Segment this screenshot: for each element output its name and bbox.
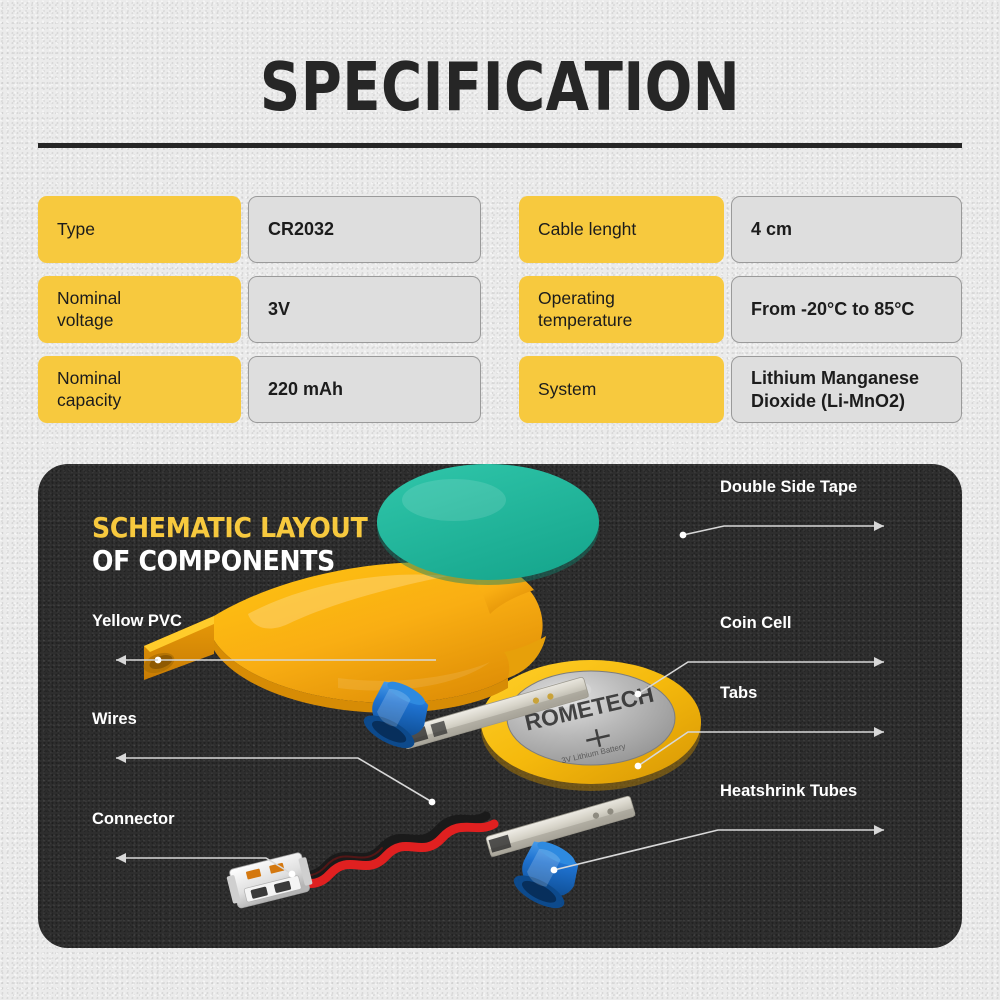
callout-label-wires: Wires — [92, 710, 137, 729]
spec-label: System — [519, 356, 724, 423]
schematic-heading-line2: OF COMPONENTS — [92, 544, 367, 577]
spec-label: Type — [38, 196, 241, 263]
spec-row: Operatingtemperature From -20°C to 85°C — [519, 276, 962, 343]
spec-value: 220 mAh — [248, 356, 481, 423]
spec-value: From -20°C to 85°C — [731, 276, 962, 343]
spec-label: Operatingtemperature — [519, 276, 724, 343]
spec-value: Lithium ManganeseDioxide (Li-MnO2) — [731, 356, 962, 423]
schematic-heading-line1: SCHEMATIC LAYOUT — [92, 511, 367, 544]
callout-label-tabs: Tabs — [720, 684, 757, 703]
spec-row: Nominalvoltage 3V — [38, 276, 481, 343]
double-side-tape-graphic — [377, 464, 599, 585]
title-divider — [38, 143, 962, 148]
spec-row: Type CR2032 — [38, 196, 481, 263]
callout-label-heatshrink-tubes: Heatshrink Tubes — [720, 782, 857, 801]
schematic-heading: SCHEMATIC LAYOUT OF COMPONENTS — [92, 511, 367, 577]
page-title: SPECIFICATION — [35, 48, 965, 126]
callout-label-connector: Connector — [92, 810, 175, 829]
spec-row: Cable lenght 4 cm — [519, 196, 962, 263]
callout-label-double-side-tape: Double Side Tape — [720, 478, 857, 497]
spec-value: 4 cm — [731, 196, 962, 263]
connector-graphic — [225, 851, 314, 910]
spec-label: Nominalvoltage — [38, 276, 241, 343]
coin-cell-graphic: ROMETECH 3V Lithium Battery — [481, 660, 701, 791]
spec-label: Nominalcapacity — [38, 356, 241, 423]
spec-row: System Lithium ManganeseDioxide (Li-MnO2… — [519, 356, 962, 423]
spec-column-left: Type CR2032 Nominalvoltage 3V Nominalcap… — [38, 196, 481, 423]
specification-table: Type CR2032 Nominalvoltage 3V Nominalcap… — [38, 196, 962, 423]
spec-value: 3V — [248, 276, 481, 343]
callout-label-yellow-pvc: Yellow PVC — [92, 612, 182, 631]
spec-column-right: Cable lenght 4 cm Operatingtemperature F… — [519, 196, 962, 423]
callout-label-coin-cell: Coin Cell — [720, 614, 792, 633]
spec-value: CR2032 — [248, 196, 481, 263]
spec-label: Cable lenght — [519, 196, 724, 263]
schematic-panel: SCHEMATIC LAYOUT OF COMPONENTS — [38, 464, 962, 948]
spec-row: Nominalcapacity 220 mAh — [38, 356, 481, 423]
